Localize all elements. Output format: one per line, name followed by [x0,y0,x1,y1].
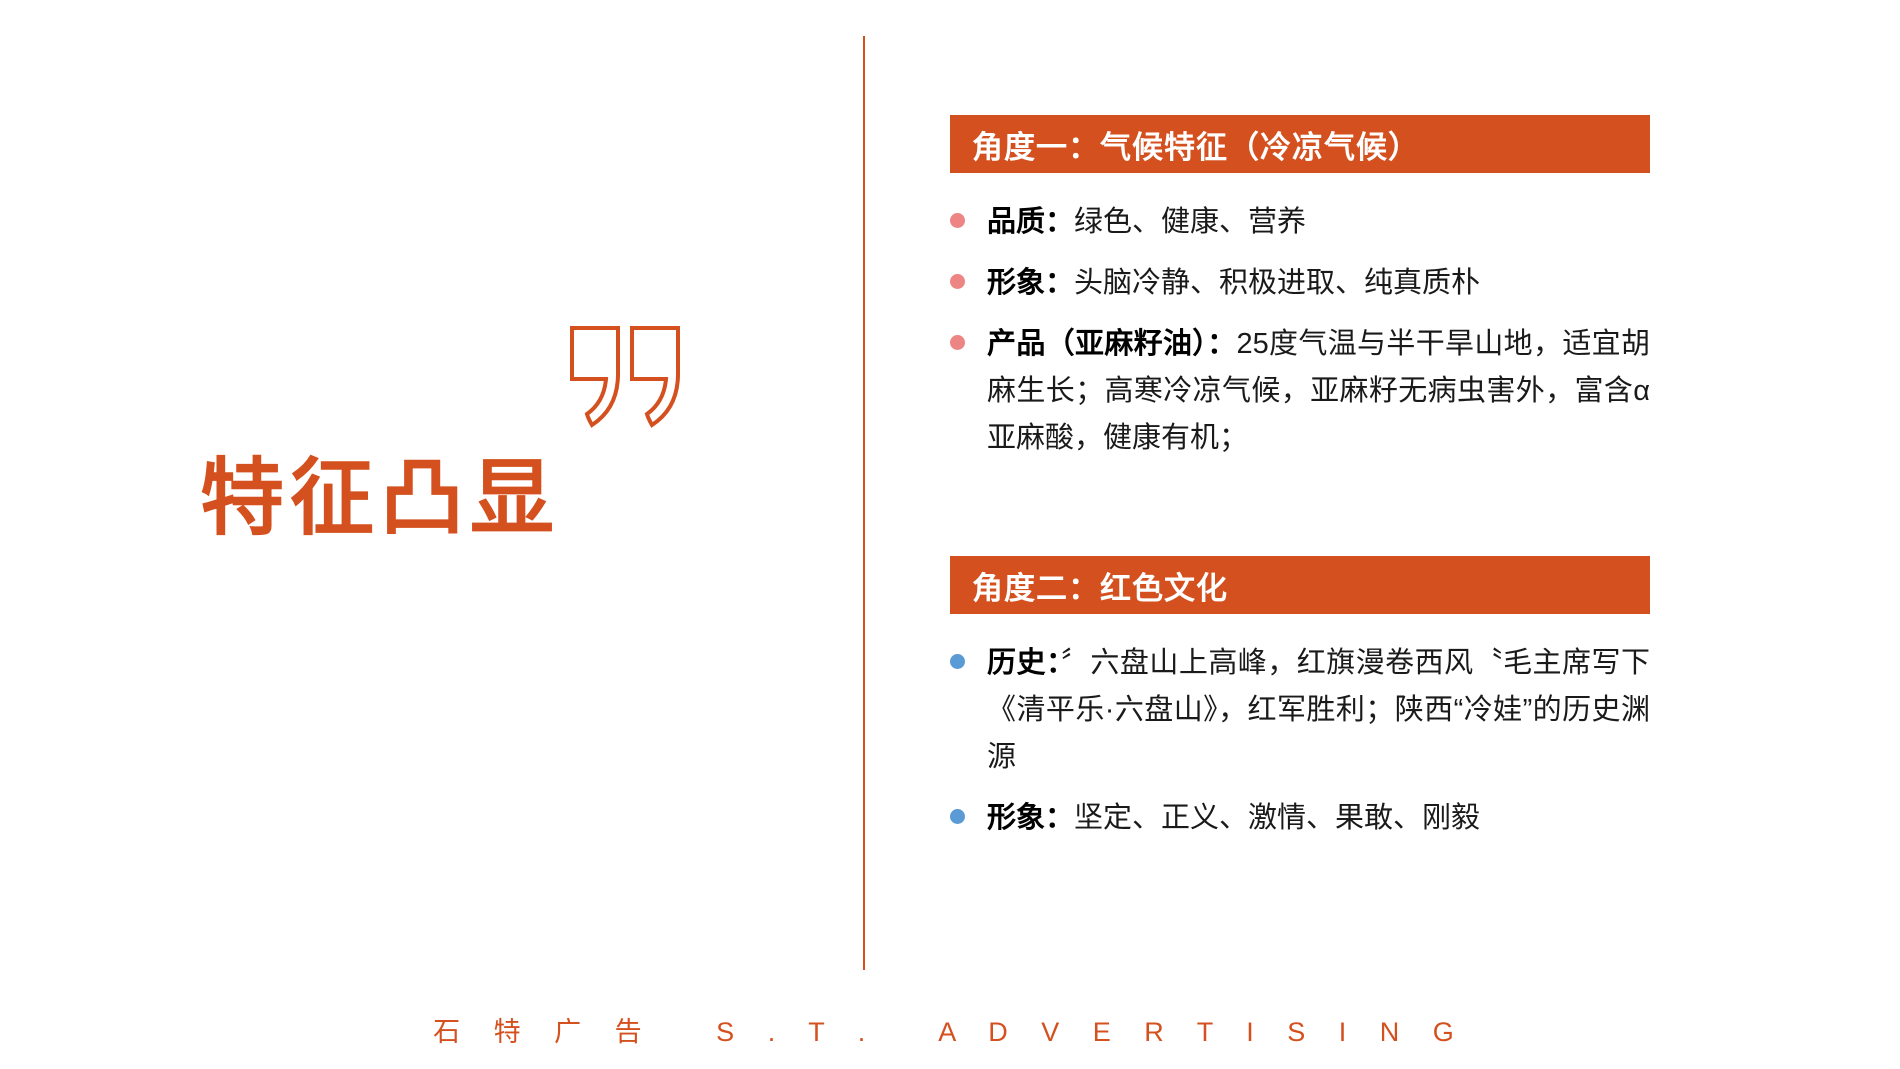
section-banner-2-label: 角度二：红色文化 [972,563,1228,608]
bullet-dot-icon [950,654,965,669]
bullet-text: 形象：头脑冷静、积极进取、纯真质朴 [987,260,1650,307]
bullet-label: 品质： [987,206,1074,238]
section-banner-1: 角度一：气候特征（冷凉气候） [950,115,1650,173]
bullet-list-2: 历史：〞六盘山上高峰，红旗漫卷西风〝毛主席写下《清平乐·六盘山》，红军胜利；陕西… [950,640,1650,842]
bullet-label: 产品（亚麻籽油）： [987,328,1236,360]
left-panel: 特征凸显 [0,0,863,1069]
bullet-text: 历史：〞六盘山上高峰，红旗漫卷西风〝毛主席写下《清平乐·六盘山》，红军胜利；陕西… [987,640,1650,781]
section-red-culture: 角度二：红色文化 历史：〞六盘山上高峰，红旗漫卷西风〝毛主席写下《清平乐·六盘山… [950,556,1650,856]
bullet-body: 头脑冷静、积极进取、纯真质朴 [1074,267,1480,299]
list-item: 品质：绿色、健康、营养 [950,199,1650,246]
page-title: 特征凸显 [200,452,560,544]
bullet-text: 产品（亚麻籽油）：25度气温与半干旱山地，适宜胡麻生长；高寒冷凉气候，亚麻籽无病… [987,321,1650,462]
bullet-label: 形象： [987,267,1074,299]
bullet-body: 坚定、正义、激情、果敢、刚毅 [1074,802,1480,834]
bullet-text: 形象：坚定、正义、激情、果敢、刚毅 [987,795,1650,842]
footer: 石 特 广 告 S . T . A D V E R T I S I N G [0,1010,1900,1049]
list-item: 形象：坚定、正义、激情、果敢、刚毅 [950,795,1650,842]
right-panel: 角度一：气候特征（冷凉气候） 品质：绿色、健康、营养 形象：头脑冷静、积极进取、… [950,0,1710,1069]
bullet-dot-icon [950,274,965,289]
bullet-dot-icon [950,213,965,228]
bullet-body: 绿色、健康、营养 [1074,206,1306,238]
presentation-slide: 特征凸显 角度一：气候特征（冷凉气候） 品质：绿色、健康、营养 形象：头脑冷静、… [0,0,1900,1069]
list-item: 形象：头脑冷静、积极进取、纯真质朴 [950,260,1650,307]
footer-brand-text: 石 特 广 告 S . T . A D V E R T I S I N G [433,1010,1467,1049]
section-banner-1-label: 角度一：气候特征（冷凉气候） [972,122,1420,167]
bullet-body: 〞六盘山上高峰，红旗漫卷西风〝毛主席写下《清平乐·六盘山》，红军胜利；陕西“冷娃… [987,647,1650,773]
vertical-divider [863,36,865,970]
bullet-dot-icon [950,335,965,350]
bullet-dot-icon [950,809,965,824]
bullet-text: 品质：绿色、健康、营养 [987,199,1650,246]
list-item: 产品（亚麻籽油）：25度气温与半干旱山地，适宜胡麻生长；高寒冷凉气候，亚麻籽无病… [950,321,1650,462]
list-item: 历史：〞六盘山上高峰，红旗漫卷西风〝毛主席写下《清平乐·六盘山》，红军胜利；陕西… [950,640,1650,781]
quote-mark-icon [566,322,686,432]
section-banner-2: 角度二：红色文化 [950,556,1650,614]
section-climate: 角度一：气候特征（冷凉气候） 品质：绿色、健康、营养 形象：头脑冷静、积极进取、… [950,115,1650,476]
bullet-list-1: 品质：绿色、健康、营养 形象：头脑冷静、积极进取、纯真质朴 产品（亚麻籽油）：2… [950,199,1650,462]
bullet-label: 历史： [987,647,1061,679]
bullet-label: 形象： [987,802,1074,834]
